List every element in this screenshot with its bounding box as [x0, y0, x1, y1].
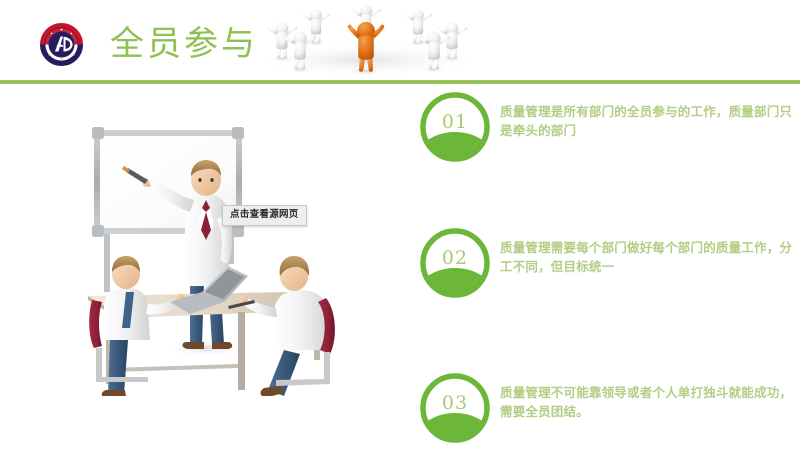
- point-badge-icon: 02: [418, 226, 492, 300]
- list-item: 01 质量管理是所有部门的全员参与的工作，质量部门只是牵头的部门: [412, 90, 800, 168]
- point-text: 质量管理是所有部门的全员参与的工作，质量部门只是牵头的部门: [500, 102, 796, 140]
- meeting-illustration: [78, 96, 348, 396]
- point-number: 02: [418, 248, 492, 268]
- header-divider: [0, 80, 800, 84]
- point-text: 质量管理不可能靠领导或者个人单打独斗就能成功，需要全员团结。: [500, 383, 796, 421]
- page-title: 全员参与: [110, 22, 258, 66]
- point-badge-icon: 01: [418, 90, 492, 164]
- source-page-tooltip[interactable]: 点击查看源网页: [222, 205, 307, 226]
- key-points-list: 01 质量管理是所有部门的全员参与的工作，质量部门只是牵头的部门 02 质量管理…: [412, 90, 800, 450]
- list-item: 02 质量管理需要每个部门做好每个部门的质量工作，分工不同，但目标统一: [412, 226, 800, 304]
- point-text: 质量管理需要每个部门做好每个部门的质量工作，分工不同，但目标统一: [500, 238, 796, 276]
- list-item: 03 质量管理不可能靠领导或者个人单打独斗就能成功，需要全员团结。: [412, 371, 800, 449]
- company-logo-icon: [38, 21, 85, 68]
- slide-header: 全员参与: [0, 0, 800, 84]
- point-number: 01: [418, 112, 492, 132]
- point-number: 03: [418, 393, 492, 413]
- teamwork-people-circle-icon: [238, 0, 496, 80]
- point-badge-icon: 03: [418, 371, 492, 445]
- slide-canvas: 全员参与: [0, 0, 800, 450]
